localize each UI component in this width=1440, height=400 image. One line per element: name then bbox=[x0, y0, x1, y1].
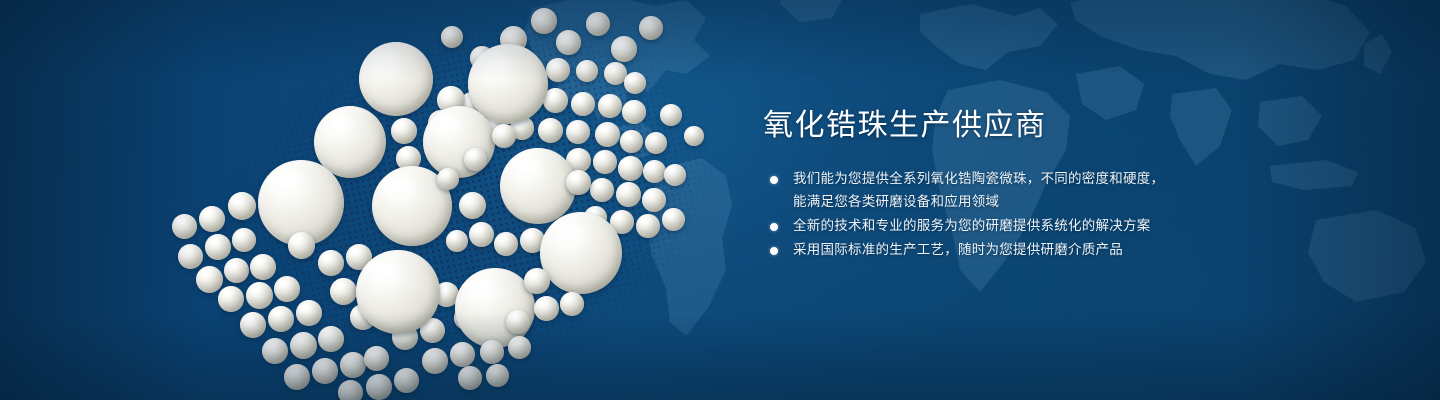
banner-bullet-list: 我们能为您提供全系列氧化锆陶瓷微珠，不同的密度和硬度， 能满足您各类研磨设备和应… bbox=[763, 168, 1383, 262]
bullet-item-3: 采用国际标准的生产工艺，随时为您提供研磨介质产品 bbox=[763, 239, 1383, 262]
bullet-text-line-1: 采用国际标准的生产工艺，随时为您提供研磨介质产品 bbox=[793, 242, 1123, 258]
bullet-dot-icon bbox=[770, 176, 778, 184]
bullet-text-line-1: 我们能为您提供全系列氧化锆陶瓷微珠，不同的密度和硬度， bbox=[793, 171, 1164, 187]
banner-headline: 氧化锆珠生产供应商 bbox=[763, 106, 1383, 146]
hero-banner: 氧化锆珠生产供应商 我们能为您提供全系列氧化锆陶瓷微珠，不同的密度和硬度， 能满… bbox=[0, 0, 1440, 400]
banner-content: 氧化锆珠生产供应商 我们能为您提供全系列氧化锆陶瓷微珠，不同的密度和硬度， 能满… bbox=[763, 106, 1383, 263]
bullet-item-1: 我们能为您提供全系列氧化锆陶瓷微珠，不同的密度和硬度， 能满足您各类研磨设备和应… bbox=[763, 168, 1383, 214]
bullet-dot-icon bbox=[770, 247, 778, 255]
bullet-text-line-2: 能满足您各类研磨设备和应用领域 bbox=[793, 191, 1383, 214]
bullet-text-line-1: 全新的技术和专业的服务为您的研磨提供系统化的解决方案 bbox=[793, 218, 1151, 234]
bullet-dot-icon bbox=[770, 223, 778, 231]
bullet-item-2: 全新的技术和专业的服务为您的研磨提供系统化的解决方案 bbox=[763, 215, 1383, 238]
